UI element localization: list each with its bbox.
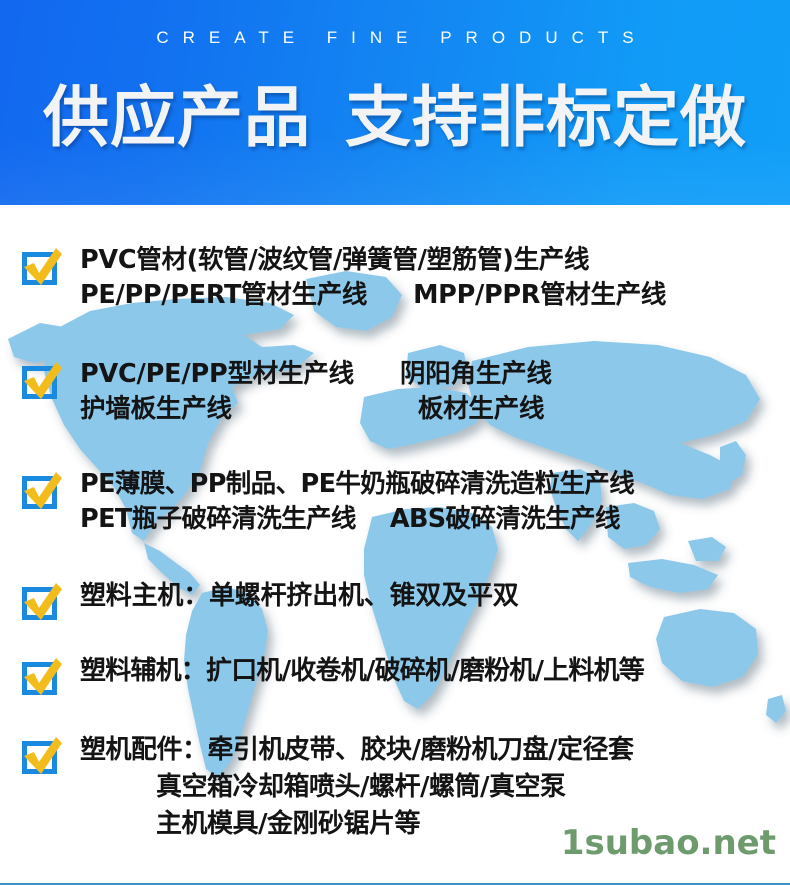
checkbox-checked-icon bbox=[18, 655, 64, 699]
checkbox-checked-icon bbox=[18, 359, 64, 403]
checkmark-icon bbox=[18, 580, 64, 624]
list-item-text: PE薄膜、PP制品、PE牛奶瓶破碎清洗造粒生产线 PET瓶子破碎清洗生产线ABS… bbox=[64, 467, 790, 537]
list-item-line: 护墙板生产线板材生产线 bbox=[80, 392, 790, 427]
line-main: 护墙板生产线 bbox=[80, 394, 232, 424]
list-item-text: PVC/PE/PP型材生产线阴阳角生产线 护墙板生产线板材生产线 bbox=[64, 357, 790, 427]
checkbox-checked-icon bbox=[18, 245, 64, 289]
list-item: PVC管材(软管/波纹管/弹簧管/塑筋管)生产线 PE/PP/PERT管材生产线… bbox=[0, 243, 790, 313]
headline-right: 支持非标定做 bbox=[345, 79, 747, 156]
checkmark-icon bbox=[18, 245, 64, 289]
line-extra: ABS破碎清洗生产线 bbox=[390, 504, 620, 534]
list-item-line: PE/PP/PERT管材生产线MPP/PPR管材生产线 bbox=[80, 278, 790, 313]
banner-headline: 供应产品支持非标定做 bbox=[0, 82, 790, 154]
checkmark-icon bbox=[18, 469, 64, 513]
checkbox-checked-icon bbox=[18, 734, 64, 778]
checkmark-icon bbox=[18, 734, 64, 778]
list-item-line: 塑料主机：单螺杆挤出机、锥双及平双 bbox=[80, 578, 790, 614]
promo-poster: CREATE FINE PRODUCTS 供应产品支持非标定做 bbox=[0, 0, 790, 885]
list-item-line: 真空箱冷却箱喷头/螺杆/螺筒/真空泵 bbox=[80, 769, 790, 806]
site-watermark: 1subao.net bbox=[561, 823, 776, 863]
banner-tagline: CREATE FINE PRODUCTS bbox=[0, 28, 790, 48]
list-item-text: 塑料主机：单螺杆挤出机、锥双及平双 bbox=[64, 578, 790, 614]
product-list: PVC管材(软管/波纹管/弹簧管/塑筋管)生产线 PE/PP/PERT管材生产线… bbox=[0, 205, 790, 885]
line-extra: 板材生产线 bbox=[418, 394, 545, 424]
line-extra: MPP/PPR管材生产线 bbox=[413, 280, 666, 310]
line-main: PET瓶子破碎清洗生产线 bbox=[80, 504, 356, 534]
list-item-line: PVC管材(软管/波纹管/弹簧管/塑筋管)生产线 bbox=[80, 243, 790, 278]
checkmark-icon bbox=[18, 359, 64, 403]
list-item-text: 塑料辅机：扩口机/收卷机/破碎机/磨粉机/上料机等 bbox=[64, 653, 790, 689]
list-item-line: PE薄膜、PP制品、PE牛奶瓶破碎清洗造粒生产线 bbox=[80, 467, 790, 502]
list-item-line: PVC/PE/PP型材生产线阴阳角生产线 bbox=[80, 357, 790, 392]
list-item: PE薄膜、PP制品、PE牛奶瓶破碎清洗造粒生产线 PET瓶子破碎清洗生产线ABS… bbox=[0, 467, 790, 537]
list-item: 塑料主机：单螺杆挤出机、锥双及平双 bbox=[0, 578, 790, 624]
headline-left: 供应产品 bbox=[43, 79, 311, 156]
header-banner: CREATE FINE PRODUCTS 供应产品支持非标定做 bbox=[0, 0, 790, 205]
line-main: PE/PP/PERT管材生产线 bbox=[80, 280, 367, 310]
checkbox-checked-icon bbox=[18, 469, 64, 513]
checkmark-icon bbox=[18, 655, 64, 699]
list-item: PVC/PE/PP型材生产线阴阳角生产线 护墙板生产线板材生产线 bbox=[0, 357, 790, 427]
checkbox-checked-icon bbox=[18, 580, 64, 624]
line-main: PVC/PE/PP型材生产线 bbox=[80, 359, 354, 389]
list-item-text: PVC管材(软管/波纹管/弹簧管/塑筋管)生产线 PE/PP/PERT管材生产线… bbox=[64, 243, 790, 313]
line-extra: 阴阳角生产线 bbox=[400, 359, 552, 389]
list-item-line: PET瓶子破碎清洗生产线ABS破碎清洗生产线 bbox=[80, 502, 790, 537]
list-item-line: 塑料辅机：扩口机/收卷机/破碎机/磨粉机/上料机等 bbox=[80, 653, 790, 689]
list-item-line: 塑机配件：牵引机皮带、胶块/磨粉机刀盘/定径套 bbox=[80, 732, 790, 769]
list-item: 塑料辅机：扩口机/收卷机/破碎机/磨粉机/上料机等 bbox=[0, 653, 790, 699]
